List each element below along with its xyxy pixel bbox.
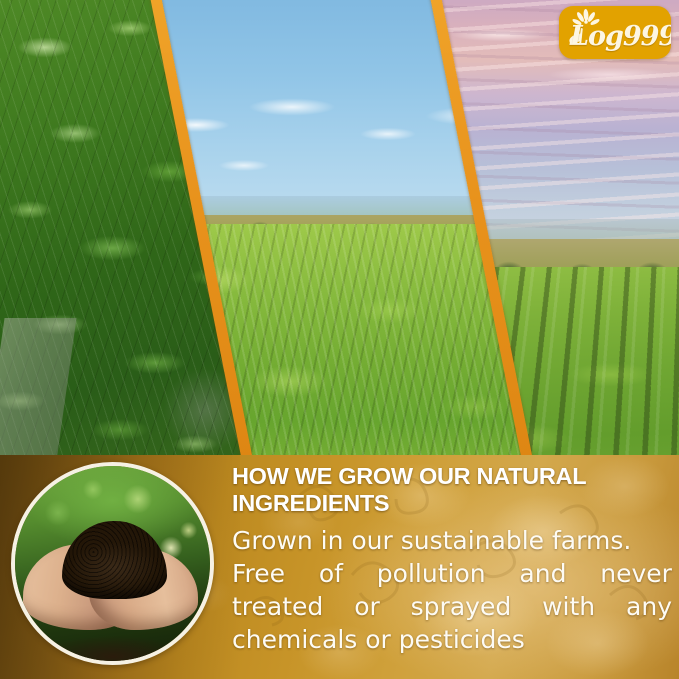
body-line-1: Grown in our sustainable farms. bbox=[232, 524, 672, 557]
soil-ground bbox=[35, 618, 191, 661]
word: treated bbox=[232, 590, 323, 623]
body-line-4: chemicals or pesticides bbox=[232, 623, 672, 656]
word: pollution bbox=[377, 557, 486, 590]
word: any bbox=[626, 590, 672, 623]
photo-strip bbox=[0, 0, 679, 458]
headline-line-1: HOW WE GROW OUR NATURAL bbox=[232, 463, 586, 489]
headline-line-2: INGREDIENTS bbox=[232, 490, 389, 516]
word: or bbox=[354, 590, 380, 623]
logo-wordmark: Log999 bbox=[570, 23, 666, 50]
body-line-2: Free of pollution and never bbox=[232, 557, 672, 590]
headline: HOW WE GROW OUR NATURAL INGREDIENTS bbox=[232, 463, 672, 518]
product-infographic: Log999 HO bbox=[0, 0, 679, 679]
banner-copy: HOW WE GROW OUR NATURAL INGREDIENTS Grow… bbox=[232, 463, 672, 656]
word: of bbox=[319, 557, 343, 590]
brand-logo[interactable]: Log999 bbox=[559, 6, 671, 59]
word: sprayed bbox=[411, 590, 512, 623]
bokeh-background bbox=[15, 466, 210, 661]
soil-mound bbox=[62, 521, 167, 599]
body-line-3: treated or sprayed with any bbox=[232, 590, 672, 623]
word: and bbox=[519, 557, 566, 590]
word: never bbox=[600, 557, 672, 590]
info-banner: HOW WE GROW OUR NATURAL INGREDIENTS Grow… bbox=[0, 455, 679, 679]
word: with bbox=[542, 590, 595, 623]
word: Free bbox=[232, 557, 285, 590]
hands-holding-soil-photo bbox=[11, 462, 214, 665]
body-copy: Grown in our sustainable farms. Free of … bbox=[232, 524, 672, 656]
